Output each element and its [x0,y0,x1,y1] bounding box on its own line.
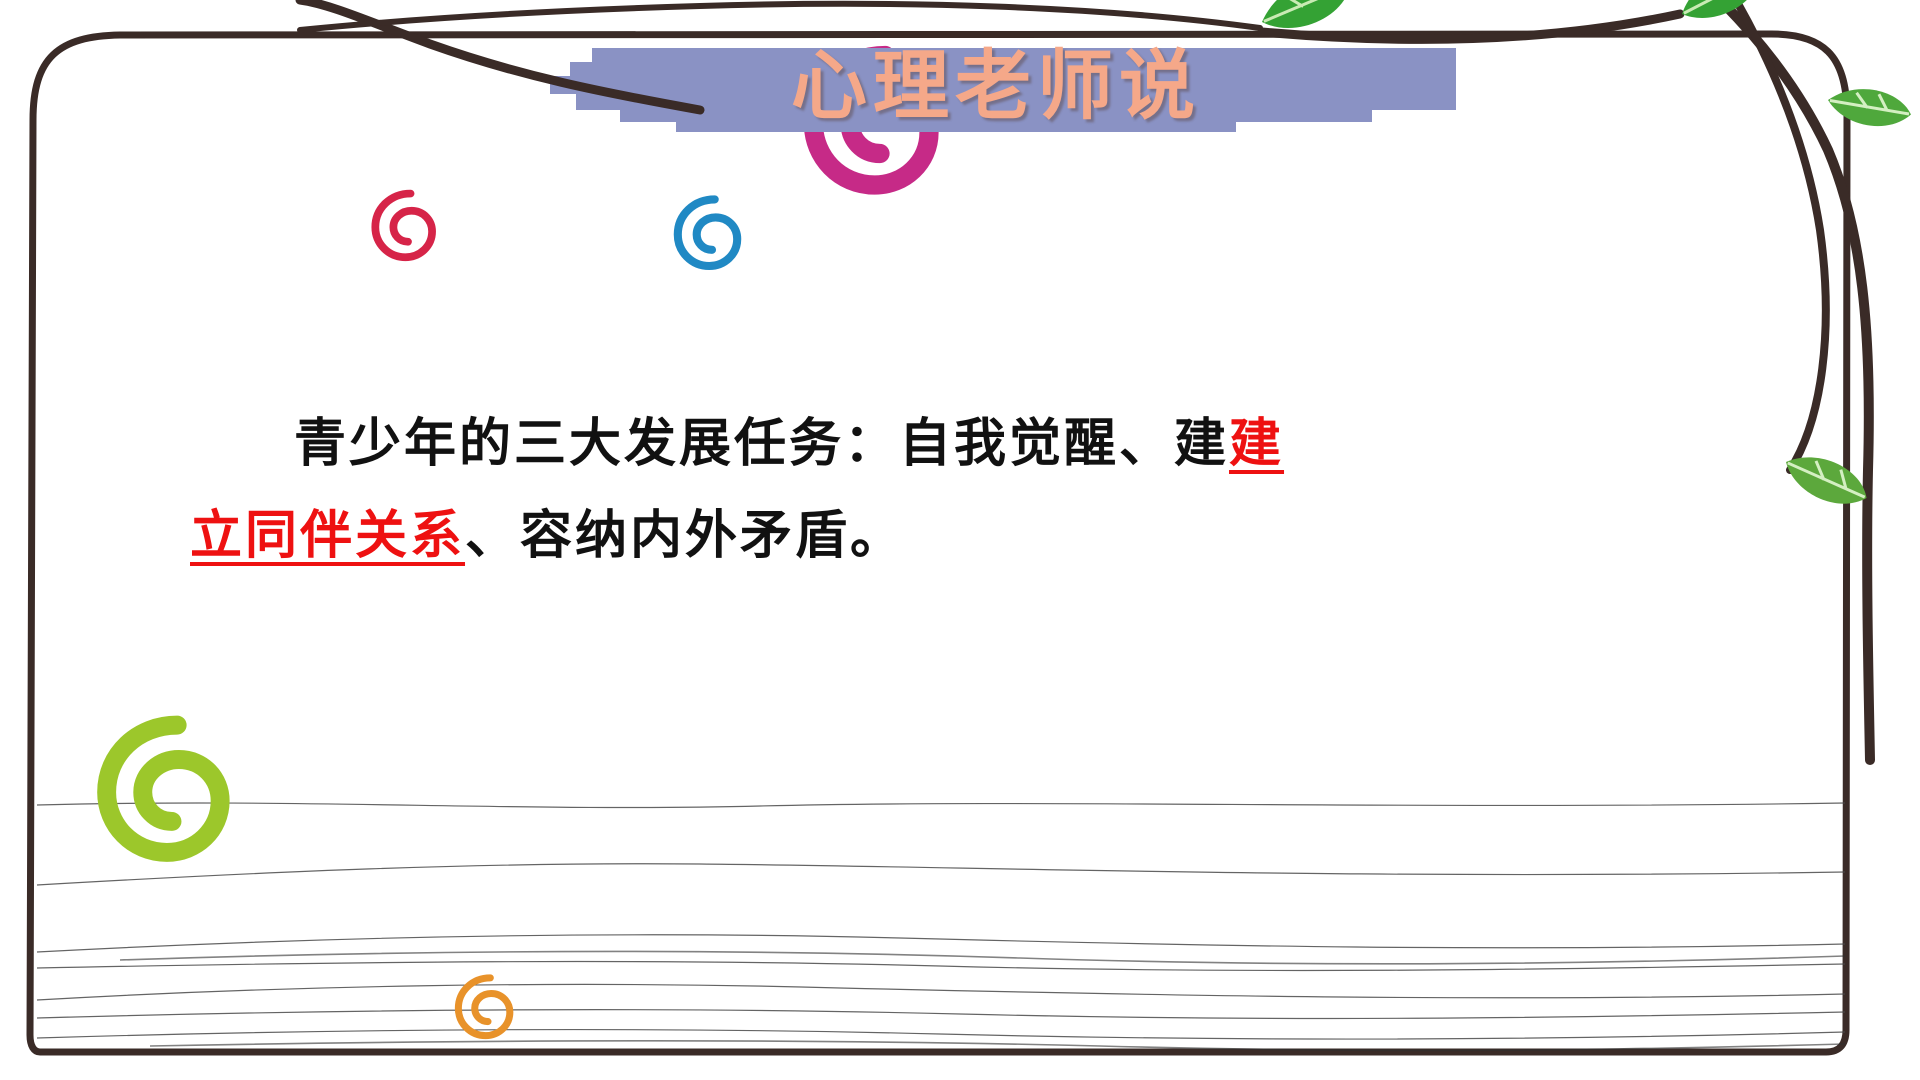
slide-canvas: 心理老师说 青少年的三大发展任务： [0,0,1920,1080]
body-highlight-second: 立同伴关系 [190,505,465,566]
spiral-green-icon [107,725,221,852]
spiral-orange-icon [458,978,509,1036]
body-line-two-rest: 、容纳内外矛盾。 [465,505,905,566]
spiral-blue-icon [678,199,737,266]
body-paragraph: 青少年的三大发展任务：自我觉醒、建建立同伴关系、容纳内外矛盾。 [190,398,1760,582]
leaf-top-right-icon [1673,0,1771,29]
page-title: 心理老师说 [536,32,1456,140]
vine-top-arc [300,4,1260,30]
leaf-right-low-icon [1778,442,1874,518]
leaf-right-mid-icon [1824,80,1914,135]
body-highlight-first: 建 [1229,413,1284,474]
spiral-crimson-icon [375,194,432,258]
vine-right-main [1720,0,1870,760]
body-line-one: 青少年的三大发展任务：自我觉醒、建 [294,413,1229,474]
